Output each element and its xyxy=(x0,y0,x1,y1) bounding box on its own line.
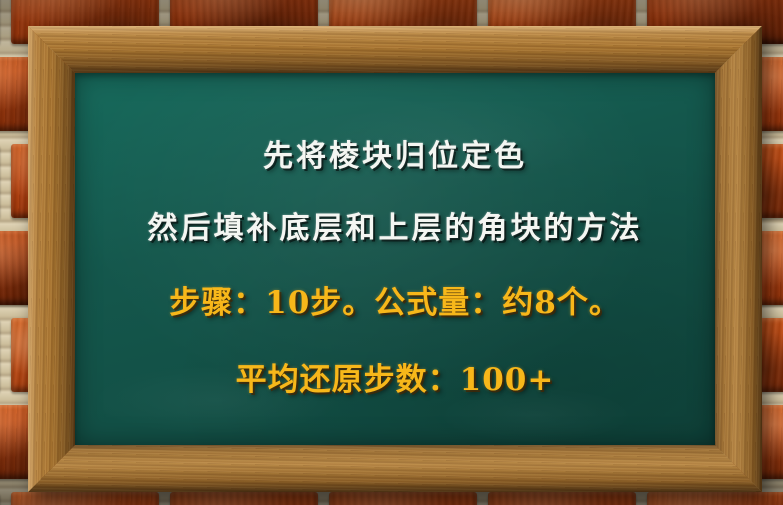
brick-row xyxy=(0,492,783,505)
chalkboard-text-stack: 先将棱块归位定色 然后填补底层和上层的角块的方法 步骤：10步。公式量：约8个。… xyxy=(75,73,715,445)
brick xyxy=(329,492,477,505)
screenshot-root: 先将棱块归位定色 然后填补底层和上层的角块的方法 步骤：10步。公式量：约8个。… xyxy=(0,0,783,505)
brick xyxy=(11,492,159,505)
frame-bar-bottom xyxy=(28,445,762,492)
chalkboard-surface: 先将棱块归位定色 然后填补底层和上层的角块的方法 步骤：10步。公式量：约8个。… xyxy=(75,73,715,445)
brick xyxy=(647,492,783,505)
board-line-3-steps: 步骤：10步。公式量：约8个。 xyxy=(169,277,621,322)
blackboard: 先将棱块归位定色 然后填补底层和上层的角块的方法 步骤：10步。公式量：约8个。… xyxy=(28,26,762,492)
brick xyxy=(488,492,636,505)
frame-bar-left xyxy=(28,26,75,492)
frame-bar-right xyxy=(715,26,762,492)
frame-bar-top xyxy=(28,26,762,73)
brick xyxy=(170,492,318,505)
board-line-2: 然后填补底层和上层的角块的方法 xyxy=(148,203,643,247)
board-line-1: 先将棱块归位定色 xyxy=(263,131,527,175)
board-line-4-average-moves: 平均还原步数：100+ xyxy=(236,354,555,399)
